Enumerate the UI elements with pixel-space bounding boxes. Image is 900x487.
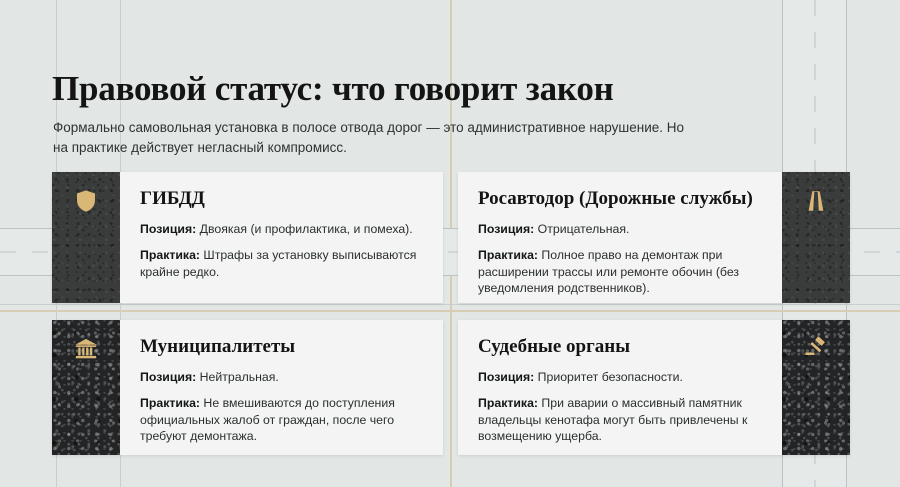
icon-panel <box>52 172 120 303</box>
card-body: ГИБДД Позиция: Двоякая (и профилактика, … <box>120 172 443 303</box>
card-practice: Практика: Не вмешиваются до поступления … <box>140 395 425 445</box>
position-label: Позиция: <box>140 370 196 384</box>
grid-line-horizontal <box>0 304 900 305</box>
gavel-icon <box>803 336 829 362</box>
accent-line-horizontal <box>0 310 900 312</box>
card-body: Муниципалитеты Позиция: Нейтральная. Пра… <box>120 320 443 455</box>
info-card-municipalities: Муниципалитеты Позиция: Нейтральная. Пра… <box>52 320 443 455</box>
card-practice: Практика: Штрафы за установку выписывают… <box>140 247 425 280</box>
practice-label: Практика: <box>478 396 538 410</box>
card-body: Росавтодор (Дорожные службы) Позиция: От… <box>458 172 782 303</box>
card-practice: Практика: Полное право на демонтаж при р… <box>478 247 764 297</box>
card-position: Позиция: Отрицательная. <box>478 221 764 238</box>
practice-label: Практика: <box>140 248 200 262</box>
info-card-gibdd: ГИБДД Позиция: Двоякая (и профилактика, … <box>52 172 443 303</box>
card-title: ГИБДД <box>140 189 425 210</box>
position-text: Нейтральная. <box>196 370 279 384</box>
card-title: Росавтодор (Дорожные службы) <box>478 189 764 210</box>
page-subtitle: Формально самовольная установка в полосе… <box>53 118 693 158</box>
bank-icon <box>73 336 99 362</box>
icon-panel <box>782 172 850 303</box>
shield-icon <box>73 188 99 214</box>
card-position: Позиция: Приоритет безопасности. <box>478 369 764 386</box>
card-body: Судебные органы Позиция: Приоритет безоп… <box>458 320 782 455</box>
card-position: Позиция: Двоякая (и профилактика, и поме… <box>140 221 425 238</box>
info-card-court: Судебные органы Позиция: Приоритет безоп… <box>458 320 850 455</box>
card-title: Муниципалитеты <box>140 337 425 358</box>
position-text: Отрицательная. <box>534 222 629 236</box>
position-label: Позиция: <box>478 222 534 236</box>
card-practice: Практика: При аварии о массивный памятни… <box>478 395 764 445</box>
road-icon <box>803 188 829 214</box>
position-label: Позиция: <box>478 370 534 384</box>
card-position: Позиция: Нейтральная. <box>140 369 425 386</box>
icon-panel <box>782 320 850 455</box>
icon-panel <box>52 320 120 455</box>
practice-label: Практика: <box>140 396 200 410</box>
position-text: Двоякая (и профилактика, и помеха). <box>196 222 412 236</box>
info-card-rosavtodor: Росавтодор (Дорожные службы) Позиция: От… <box>458 172 850 303</box>
card-title: Судебные органы <box>478 337 764 358</box>
position-text: Приоритет безопасности. <box>534 370 683 384</box>
page-title: Правовой статус: что говорит закон <box>52 69 614 109</box>
practice-label: Практика: <box>478 248 538 262</box>
position-label: Позиция: <box>140 222 196 236</box>
